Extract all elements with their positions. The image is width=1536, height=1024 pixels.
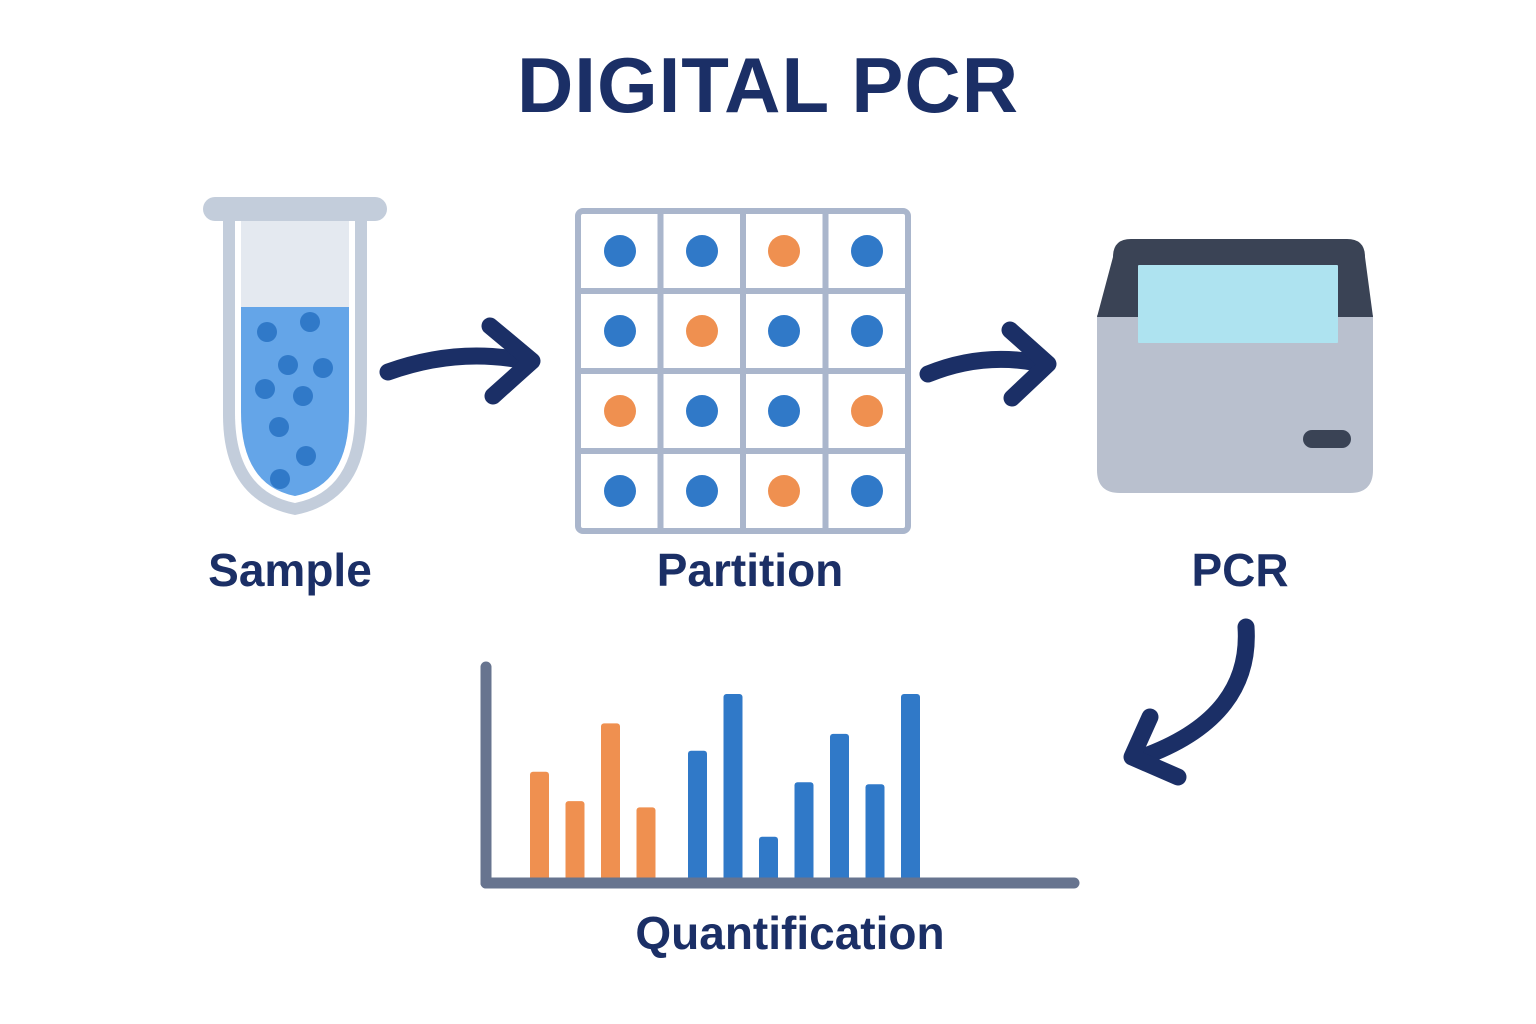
chart-bar <box>530 772 549 883</box>
sample-tube-illustration <box>175 185 415 535</box>
sample-dot <box>293 386 313 406</box>
chart-bar <box>866 784 885 883</box>
arrow-sample-to-partition-icon <box>380 312 560 412</box>
partition-dot-orange <box>768 475 800 507</box>
chart-bar <box>830 734 849 883</box>
partition-dot-blue <box>851 475 883 507</box>
partition-dot-blue <box>851 315 883 347</box>
chart-bar <box>759 837 778 883</box>
sample-dot <box>313 358 333 378</box>
chart-bar <box>566 801 585 883</box>
chart-bar <box>601 723 620 883</box>
arrow-pcr-to-quantification-icon <box>1100 605 1300 805</box>
partition-dot-blue <box>768 395 800 427</box>
sample-dot <box>257 322 277 342</box>
chart-bar <box>688 751 707 883</box>
sample-dot <box>255 379 275 399</box>
partition-dot-blue <box>604 235 636 267</box>
sample-dot <box>270 469 290 489</box>
sample-dot <box>296 446 316 466</box>
tube-cap-rim <box>203 197 387 221</box>
step-label-quantification: Quantification <box>480 910 1100 956</box>
sample-dot <box>300 312 320 332</box>
machine-slot <box>1303 430 1351 448</box>
chart-bar <box>637 807 656 883</box>
chart-bar <box>724 694 743 883</box>
step-label-pcr: PCR <box>1100 547 1380 593</box>
partition-dot-blue <box>686 235 718 267</box>
partition-dot-orange <box>686 315 718 347</box>
quantification-bar-chart <box>470 655 1090 905</box>
partition-dot-blue <box>851 235 883 267</box>
step-label-partition: Partition <box>560 547 940 593</box>
arrow-partition-to-pcr-icon <box>920 318 1070 413</box>
partition-grid-illustration <box>575 208 911 534</box>
step-label-sample: Sample <box>110 547 470 593</box>
chart-bars-group <box>530 694 920 883</box>
partition-dot-blue <box>686 395 718 427</box>
chart-bar <box>901 694 920 883</box>
partition-dot-blue <box>604 315 636 347</box>
partition-dot-blue <box>768 315 800 347</box>
partition-dot-orange <box>851 395 883 427</box>
machine-screen <box>1138 265 1338 343</box>
diagram-canvas: DIGITAL PCR <box>0 0 1536 1024</box>
pcr-machine-illustration <box>1075 225 1395 505</box>
sample-dot <box>278 355 298 375</box>
partition-dot-orange <box>768 235 800 267</box>
partition-dot-blue <box>604 475 636 507</box>
partition-dot-orange <box>604 395 636 427</box>
sample-dot <box>269 417 289 437</box>
partition-dot-blue <box>686 475 718 507</box>
chart-bar <box>795 782 814 883</box>
page-title: DIGITAL PCR <box>0 46 1536 124</box>
